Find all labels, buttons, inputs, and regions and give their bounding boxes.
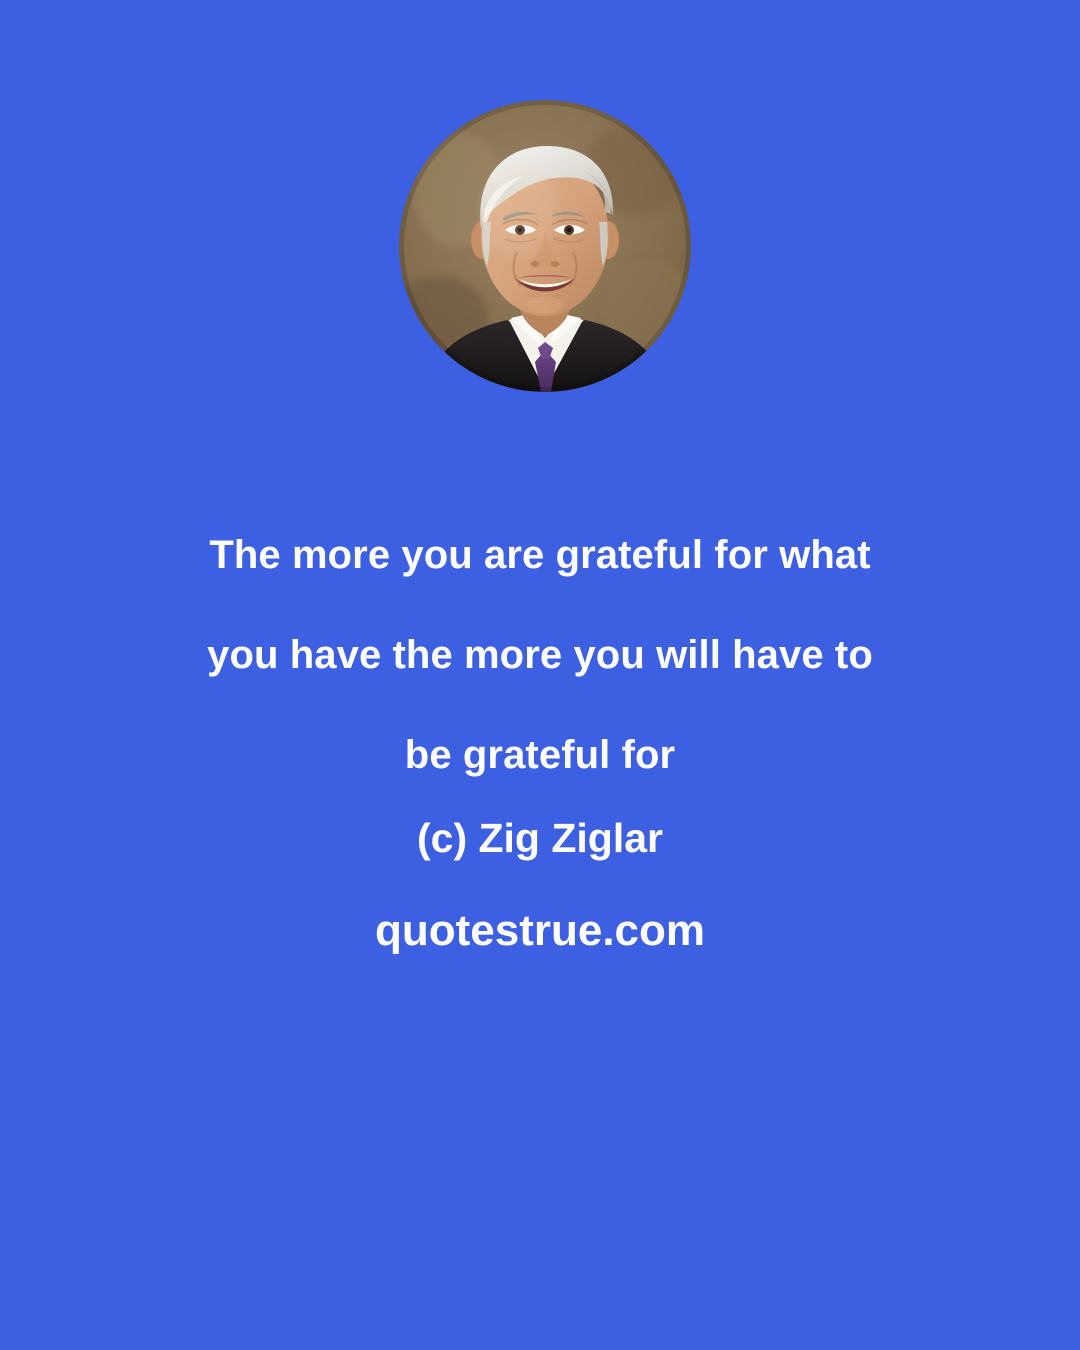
quote-attribution: (c) Zig Ziglar (0, 812, 1080, 864)
author-portrait (399, 100, 691, 392)
quote-card: The more you are grateful for what you h… (0, 0, 1080, 1350)
quote-text: The more you are grateful for what you h… (0, 505, 1080, 805)
quote-line: you have the more you will have to (0, 605, 1080, 705)
quote-line: be grateful for (0, 705, 1080, 805)
website-watermark: quotestrue.com (0, 903, 1080, 959)
quote-line: The more you are grateful for what (0, 505, 1080, 605)
author-portrait-illustration (399, 100, 691, 392)
